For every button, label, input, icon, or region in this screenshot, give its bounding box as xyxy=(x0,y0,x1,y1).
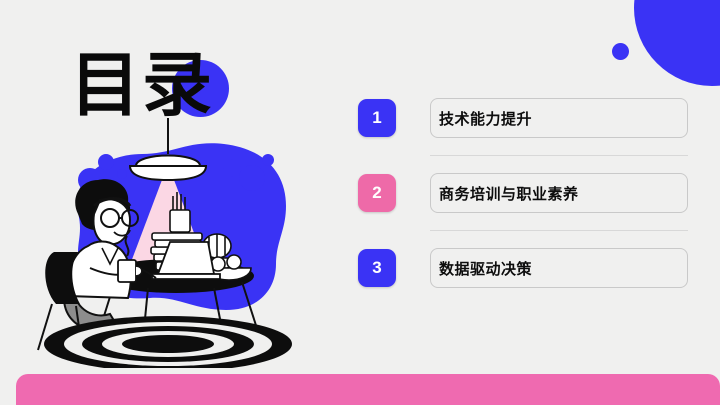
agenda-item-box-2[interactable]: 商务培训与职业素养 xyxy=(430,173,688,213)
agenda-item-box-1[interactable]: 技术能力提升 xyxy=(430,98,688,138)
agenda-item-1[interactable]: 1 技术能力提升 xyxy=(358,92,688,144)
divider-line xyxy=(430,155,688,156)
agenda-number-badge-3: 3 xyxy=(358,249,396,287)
agenda-item-2[interactable]: 2 商务培训与职业素养 xyxy=(358,167,688,219)
small-blue-dot-decoration xyxy=(612,43,629,60)
person-working-at-desk-illustration xyxy=(18,118,318,368)
agenda-item-box-3[interactable]: 数据驱动决策 xyxy=(430,248,688,288)
agenda-item-label-2: 商务培训与职业素养 xyxy=(439,183,579,204)
agenda-separator-1 xyxy=(358,144,688,167)
divider-line xyxy=(430,230,688,231)
agenda-item-label-3: 数据驱动决策 xyxy=(439,258,532,279)
top-right-blue-circle-decoration xyxy=(634,0,720,86)
agenda-number-badge-2: 2 xyxy=(358,174,396,212)
slide-canvas: 目录 xyxy=(0,0,720,405)
agenda-item-3[interactable]: 3 数据驱动决策 xyxy=(358,242,688,294)
agenda-separator-2 xyxy=(358,219,688,242)
page-title: 目录 xyxy=(70,48,214,122)
agenda-list: 1 技术能力提升 2 商务培训与职业素养 3 数据驱动决策 xyxy=(358,92,688,294)
agenda-item-label-1: 技术能力提升 xyxy=(439,108,532,129)
bottom-accent-bar xyxy=(16,374,720,405)
agenda-number-badge-1: 1 xyxy=(358,99,396,137)
